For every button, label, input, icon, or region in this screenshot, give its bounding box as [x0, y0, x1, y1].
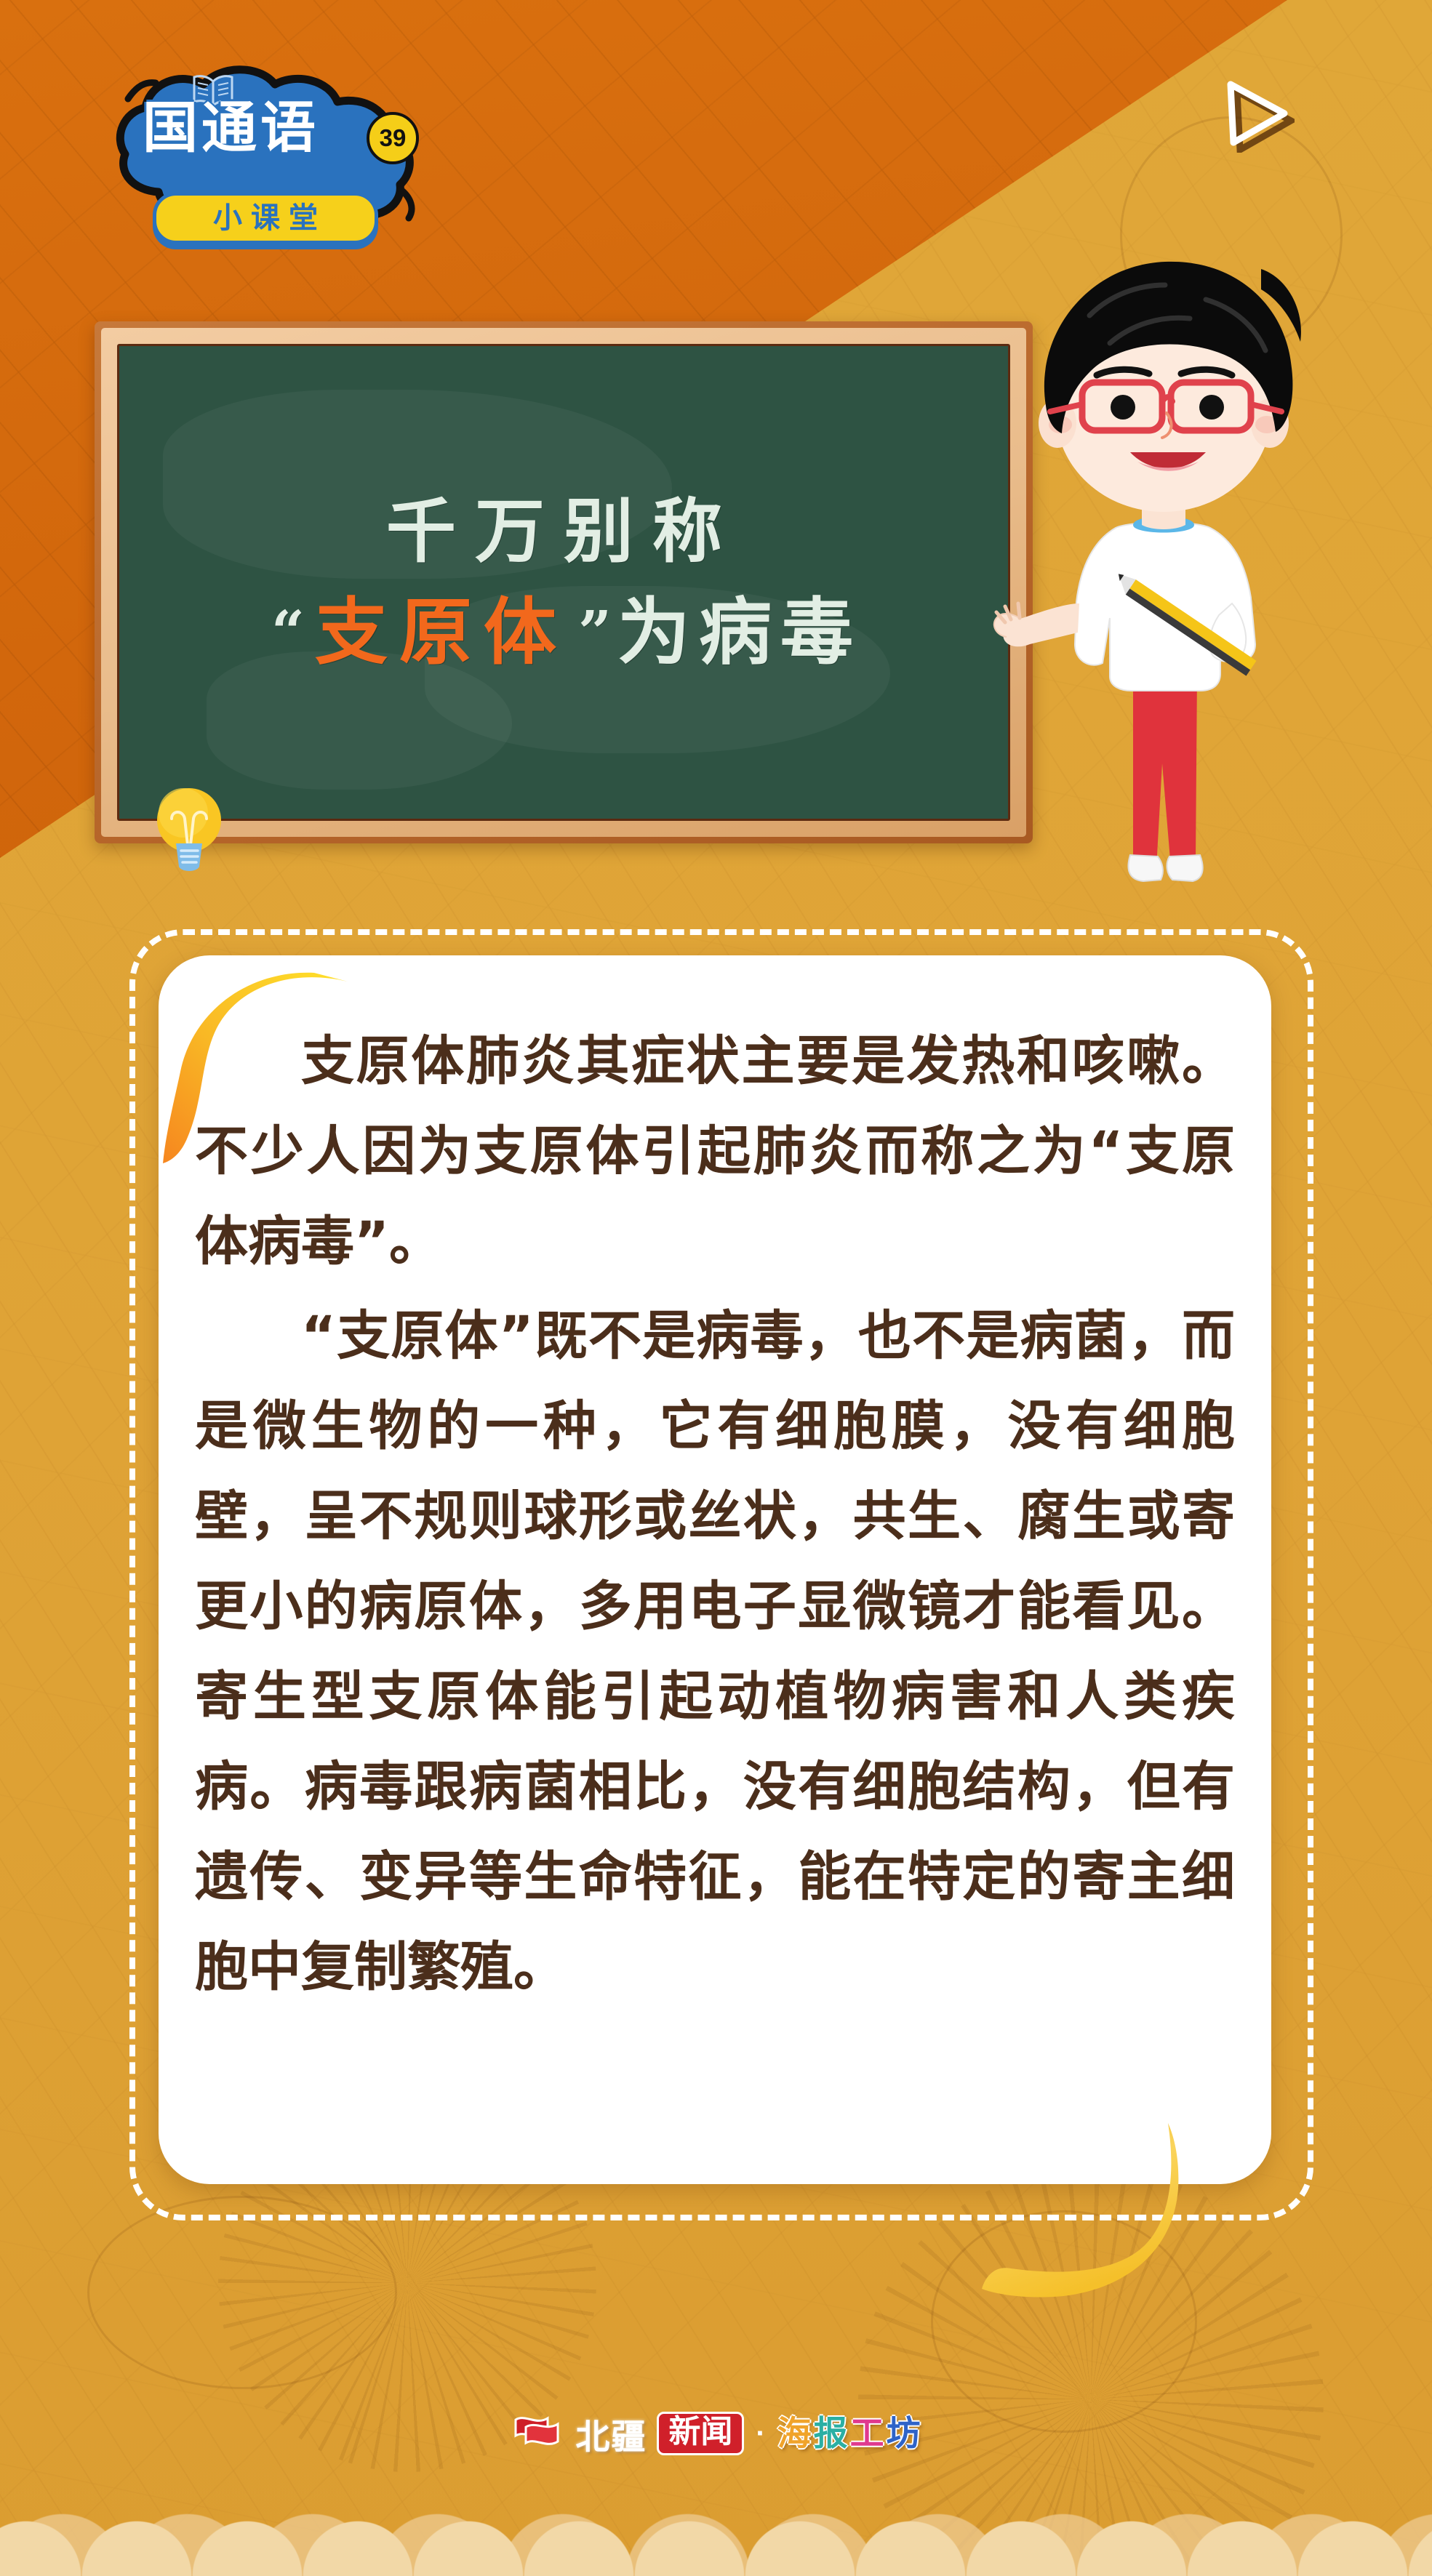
play-triangle-icon: [1215, 73, 1295, 156]
blackboard: 千万别称 “ 支原体 ” 为病毒: [95, 321, 1033, 843]
blackboard-title-line-1: 千万别称: [386, 497, 741, 566]
footer-separator: ·: [754, 2417, 767, 2450]
blackboard-bevel: 千万别称 “ 支原体 ” 为病毒: [101, 328, 1026, 837]
program-logo[interactable]: 国 通 语 39 小 课 堂: [111, 70, 423, 252]
close-quote: ”: [572, 603, 617, 661]
ribbon-curl-bottom-right: [953, 2101, 1200, 2308]
boy-student-illustration: [988, 240, 1337, 909]
logo-char-3: 语: [260, 100, 314, 156]
article-paragraph-2: “支原体”既不是病毒，也不是病菌，而是微生物的一种，它有细胞膜，没有细胞壁，呈不…: [195, 1291, 1235, 2013]
studio-char-3: 工: [850, 2417, 884, 2451]
article-paragraph-1: 支原体肺炎其症状主要是发热和咳嗽。不少人因为支原体引起肺炎而称之为“支原体病毒”…: [195, 1016, 1235, 1287]
open-quote: “: [265, 603, 311, 661]
logo-char-1: 国: [143, 100, 196, 156]
bottom-scallop-edge: [0, 2451, 1432, 2576]
blackboard-surface: 千万别称 “ 支原体 ” 为病毒: [117, 344, 1010, 821]
footer-news-badge: 新闻: [657, 2412, 744, 2455]
scallop-front-layer: [0, 2481, 1432, 2576]
blackboard-title-line-2: “ 支原体 ” 为病毒: [265, 595, 862, 668]
studio-char-1: 海: [777, 2417, 812, 2451]
red-flag-icon: [511, 2412, 565, 2455]
title-tail: 为病毒: [617, 595, 862, 668]
footer-brand-bar: 北疆 新闻 · 海 报 工 坊: [0, 2403, 1432, 2464]
logo-char-2: 通: [201, 100, 255, 156]
article-body: 支原体肺炎其症状主要是发热和咳嗽。不少人因为支原体引起肺炎而称之为“支原体病毒”…: [195, 1016, 1235, 2017]
episode-number-badge: 39: [367, 112, 419, 164]
idea-lightbulb-icon: [145, 782, 233, 880]
studio-char-4: 坊: [887, 2417, 921, 2451]
highlight-term: 支原体: [311, 595, 572, 668]
subtitle-char-3: 堂: [289, 204, 318, 233]
subtitle-char-2: 课: [251, 204, 280, 233]
studio-char-2: 报: [814, 2417, 848, 2451]
poster-canvas: 国 通 语 39 小 课 堂 千万别称 “ 支原体 ” 为病毒: [0, 0, 1432, 2576]
logo-characters: 国 通 语: [143, 100, 314, 156]
subtitle-char-1: 小: [213, 204, 242, 233]
footer-studio-name: 海 报 工 坊: [777, 2417, 921, 2451]
footer-brand-name: 北疆: [575, 2409, 647, 2459]
logo-subtitle-ribbon: 小 课 堂: [153, 192, 378, 244]
